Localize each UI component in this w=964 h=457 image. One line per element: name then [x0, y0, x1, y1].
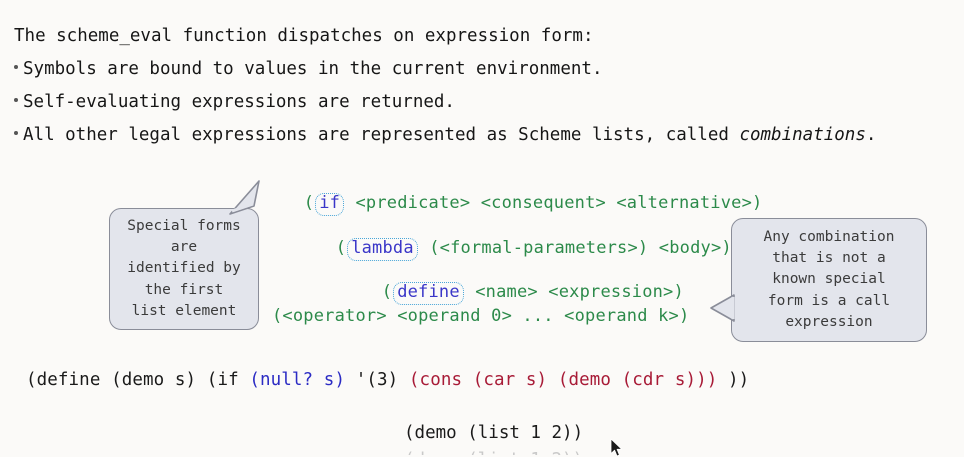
bullet-dot-icon — [14, 98, 18, 102]
callout-call-expression: Any combination that is not a known spec… — [731, 218, 927, 342]
intro-sentence: The scheme_eval function dispatches on e… — [14, 26, 593, 46]
code-ghost-line: (demo (list 1 2)) — [404, 450, 583, 455]
open-paren: ( — [304, 193, 314, 213]
code-seg-cons-branch: (cons (car s) (demo (cdr s))) — [409, 370, 717, 390]
bullet-text-3-pre: All other legal expressions are represen… — [23, 125, 739, 145]
callout-special-forms: Special forms are identified by the firs… — [109, 208, 259, 330]
keyword-if[interactable]: if — [315, 193, 344, 216]
bullet-item-2: Self-evaluating expressions are returned… — [14, 92, 455, 112]
bullet-item-1: Symbols are bound to values in the curre… — [14, 59, 602, 79]
slide-canvas: The scheme_eval function dispatches on e… — [0, 0, 964, 455]
keyword-lambda[interactable]: lambda — [347, 238, 418, 261]
code-definition-line[interactable]: (define (demo s) (if (null? s) '(3) (con… — [26, 370, 749, 390]
bullet-dot-icon — [14, 131, 18, 135]
callout-right-text: Any combination that is not a known spec… — [764, 227, 895, 332]
keyword-define[interactable]: define — [393, 282, 464, 305]
open-paren: ( — [336, 238, 346, 258]
mouse-cursor-icon — [610, 438, 623, 457]
lambda-form-rest: (<formal-parameters>) <body>) — [419, 238, 732, 258]
call-expression-form: (<operator> <operand 0> ... <operand k>) — [272, 306, 689, 326]
bullet-text-1: Symbols are bound to values in the curre… — [23, 59, 602, 79]
code-seg-1: (define (demo s) (if — [26, 370, 249, 390]
define-form-rest: <name> <expression>) — [465, 282, 684, 302]
bullet-dot-icon — [14, 65, 18, 69]
code-call-line[interactable]: (demo (list 1 2)) — [404, 423, 583, 443]
callout-left-text: Special forms are identified by the firs… — [127, 216, 241, 321]
bullet-text-3-emphasis: combinations — [739, 125, 865, 145]
code-seg-quote-literal: '(3) — [345, 370, 409, 390]
bullet-text-2: Self-evaluating expressions are returned… — [23, 92, 455, 112]
code-seg-null-check: (null? s) — [249, 370, 345, 390]
callout-tail-icon — [710, 293, 736, 323]
if-form-rest: <predicate> <consequent> <alternative>) — [345, 193, 762, 213]
code-seg-close-parens: )) — [717, 370, 749, 390]
open-paren: ( — [382, 282, 392, 302]
bullet-text-3-post: . — [866, 125, 877, 145]
bullet-item-3: All other legal expressions are represen… — [14, 125, 876, 145]
callout-tail-icon — [228, 180, 262, 216]
